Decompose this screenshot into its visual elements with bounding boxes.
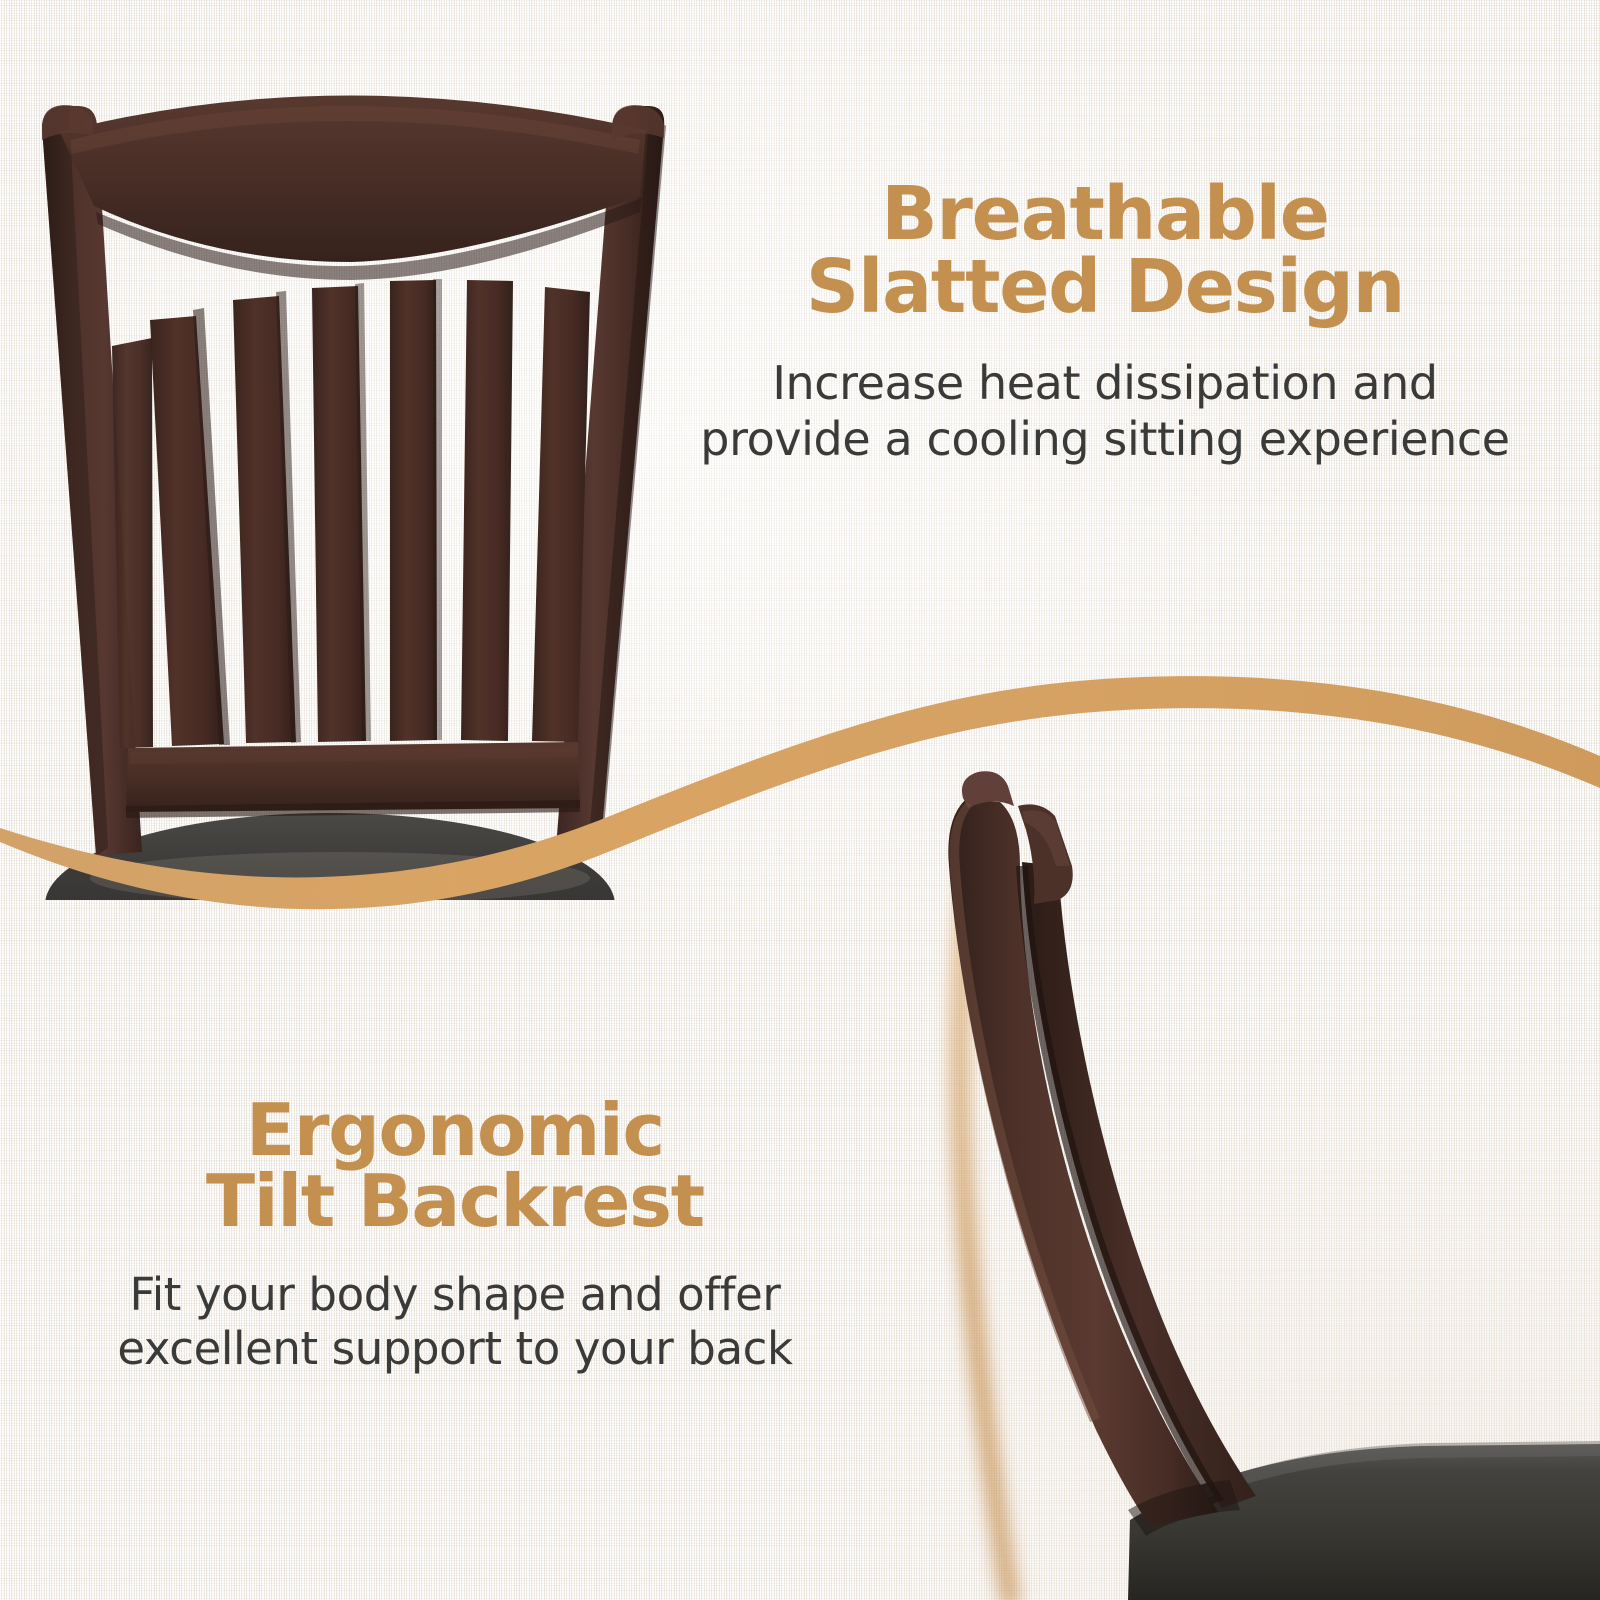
wave-ribbon bbox=[0, 676, 1600, 909]
headline-group-top: Breathable Slatted Design bbox=[640, 178, 1570, 325]
body-line1-top: Increase heat dissipation and bbox=[640, 355, 1570, 411]
headline-line2-top: Slatted Design bbox=[640, 251, 1570, 324]
body-line2-bottom: excellent support to your back bbox=[40, 1322, 870, 1377]
infographic-canvas: Breathable Slatted Design Increase heat … bbox=[0, 0, 1600, 1600]
headline-line1-bottom: Ergonomic bbox=[40, 1095, 870, 1166]
headline-line1-top: Breathable bbox=[640, 178, 1570, 251]
feature-breathable-slatted-design: Breathable Slatted Design Increase heat … bbox=[640, 178, 1570, 467]
body-line1-bottom: Fit your body shape and offer bbox=[40, 1268, 870, 1323]
feature-ergonomic-tilt-backrest: Ergonomic Tilt Backrest Fit your body sh… bbox=[40, 1095, 870, 1377]
body-line2-top: provide a cooling sitting experience bbox=[640, 411, 1570, 467]
headline-group-bottom: Ergonomic Tilt Backrest bbox=[40, 1095, 870, 1238]
headline-line2-bottom: Tilt Backrest bbox=[40, 1166, 870, 1237]
